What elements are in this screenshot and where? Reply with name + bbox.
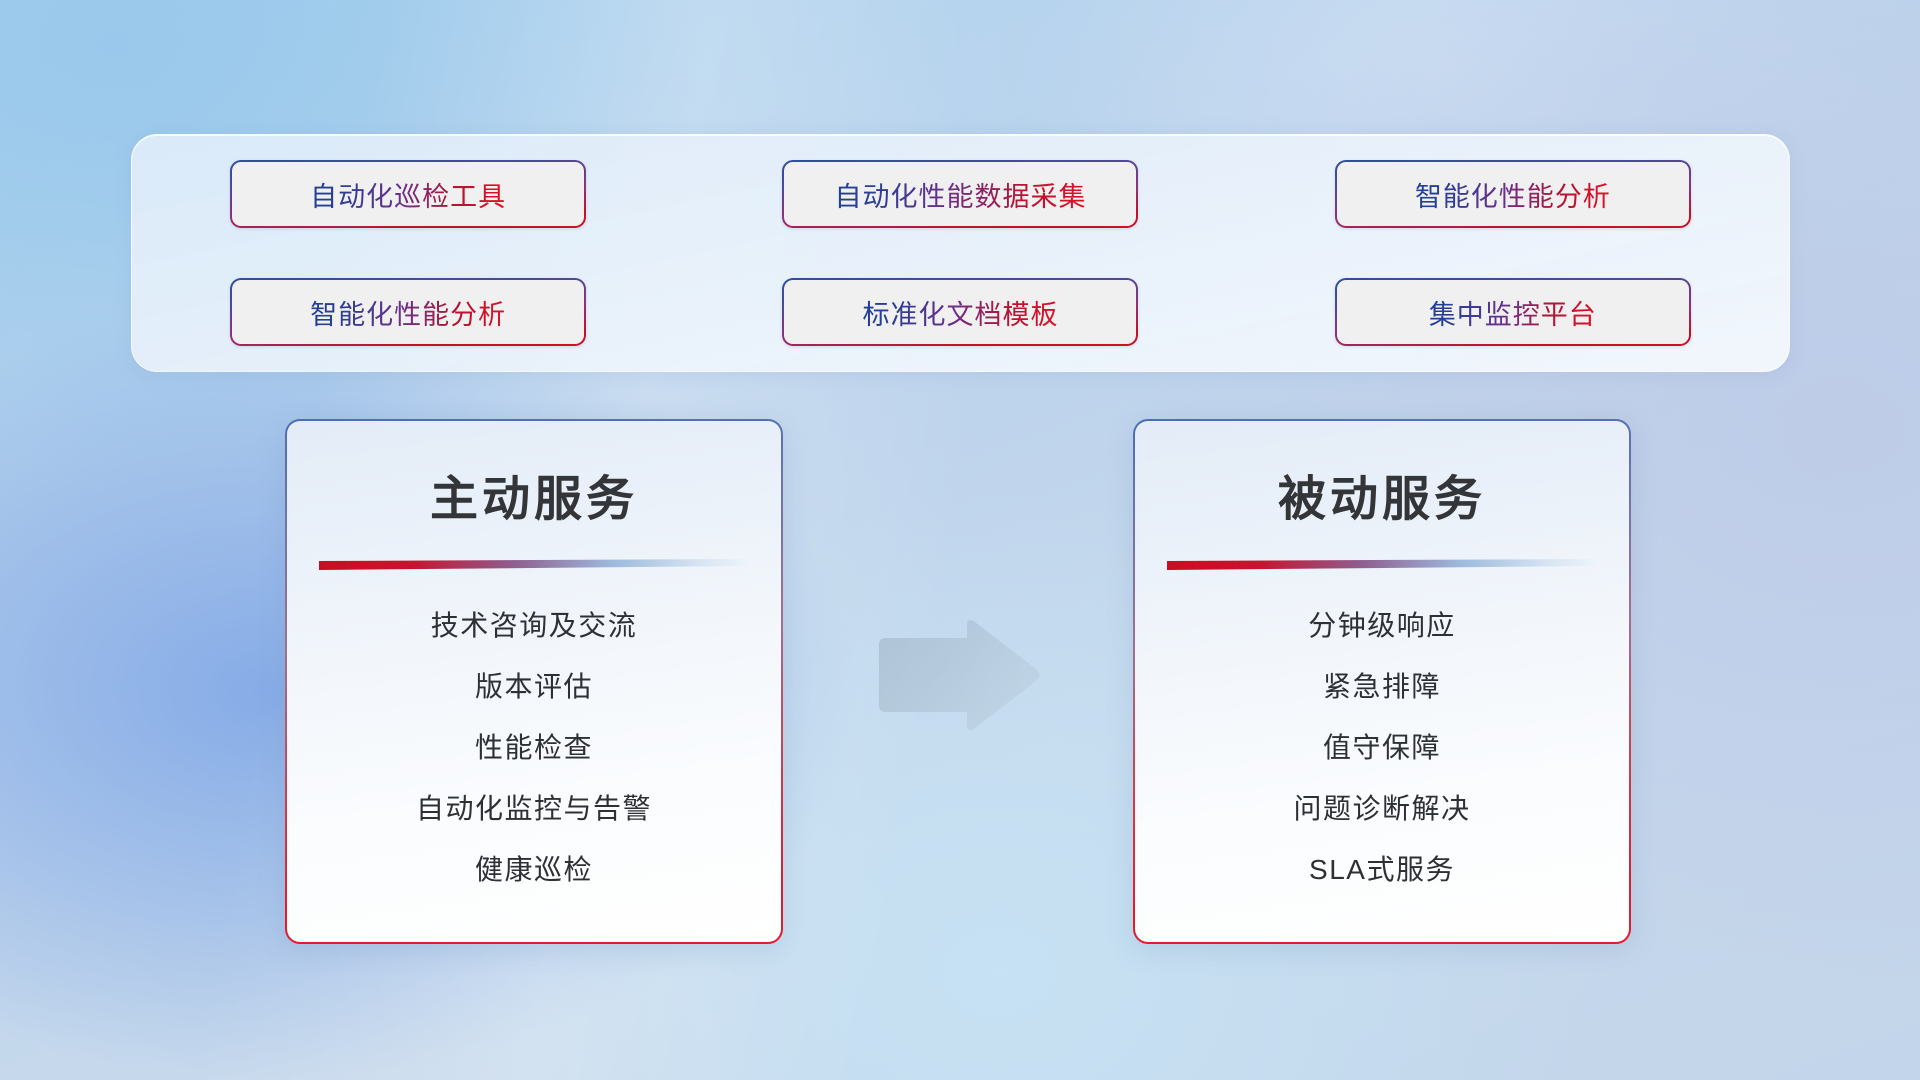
capability-tag[interactable]: 集中监控平台 [1335,278,1691,346]
capability-tag[interactable]: 智能化性能分析 [230,278,586,346]
capability-tag-grid: 自动化巡检工具 自动化性能数据采集 智能化性能分析 智能化性能分析 [132,135,1789,371]
service-list-item: 技术咨询及交流 [431,604,638,644]
capability-tag-body: 自动化巡检工具 [232,162,584,226]
capability-tag-label: 自动化巡检工具 [310,175,506,214]
service-card-proactive[interactable]: 主动服务 [285,419,783,944]
service-list-item: 紧急排障 [1323,665,1441,705]
service-list-item: 性能检查 [475,726,593,766]
capability-panel: 自动化巡检工具 自动化性能数据采集 智能化性能分析 智能化性能分析 [131,134,1790,372]
capability-tag[interactable]: 自动化巡检工具 [230,160,586,228]
arrow-right-icon [871,617,1042,733]
capability-tag-label: 标准化文档模板 [862,293,1058,332]
service-list-item: 值守保障 [1323,726,1441,766]
service-card-list: 技术咨询及交流 版本评估 性能检查 自动化监控与告警 健康巡检 [287,604,781,888]
card-divider [319,559,749,570]
capability-tag-label: 智能化性能分析 [310,293,506,332]
service-list-item: 健康巡检 [475,848,593,888]
capability-tag-body: 标准化文档模板 [784,280,1136,344]
service-card-body: 被动服务 [1135,421,1629,942]
capability-tag-label: 集中监控平台 [1429,293,1597,332]
service-list-item: 分钟级响应 [1308,604,1456,644]
service-card-title: 主动服务 [287,459,781,529]
capability-tag-label: 智能化性能分析 [1415,175,1611,214]
diagram-canvas: 自动化巡检工具 自动化性能数据采集 智能化性能分析 智能化性能分析 [0,0,1920,1080]
capability-tag-label: 自动化性能数据采集 [834,175,1086,214]
service-card-body: 主动服务 [287,421,781,942]
capability-tag-body: 集中监控平台 [1337,280,1689,344]
service-list-item: SLA式服务 [1309,848,1455,888]
capability-tag-body: 智能化性能分析 [1337,162,1689,226]
capability-tag[interactable]: 标准化文档模板 [782,278,1138,346]
service-card-list: 分钟级响应 紧急排障 值守保障 问题诊断解决 SLA式服务 [1135,604,1629,888]
service-list-item: 问题诊断解决 [1293,787,1470,827]
capability-tag-body: 自动化性能数据采集 [784,162,1136,226]
service-card-title: 被动服务 [1135,459,1629,529]
card-divider [1167,559,1597,570]
service-list-item: 版本评估 [475,665,593,705]
capability-tag[interactable]: 自动化性能数据采集 [782,160,1138,228]
capability-tag[interactable]: 智能化性能分析 [1335,160,1691,228]
service-card-reactive[interactable]: 被动服务 [1133,419,1631,944]
capability-tag-body: 智能化性能分析 [232,280,584,344]
service-list-item: 自动化监控与告警 [416,787,652,827]
